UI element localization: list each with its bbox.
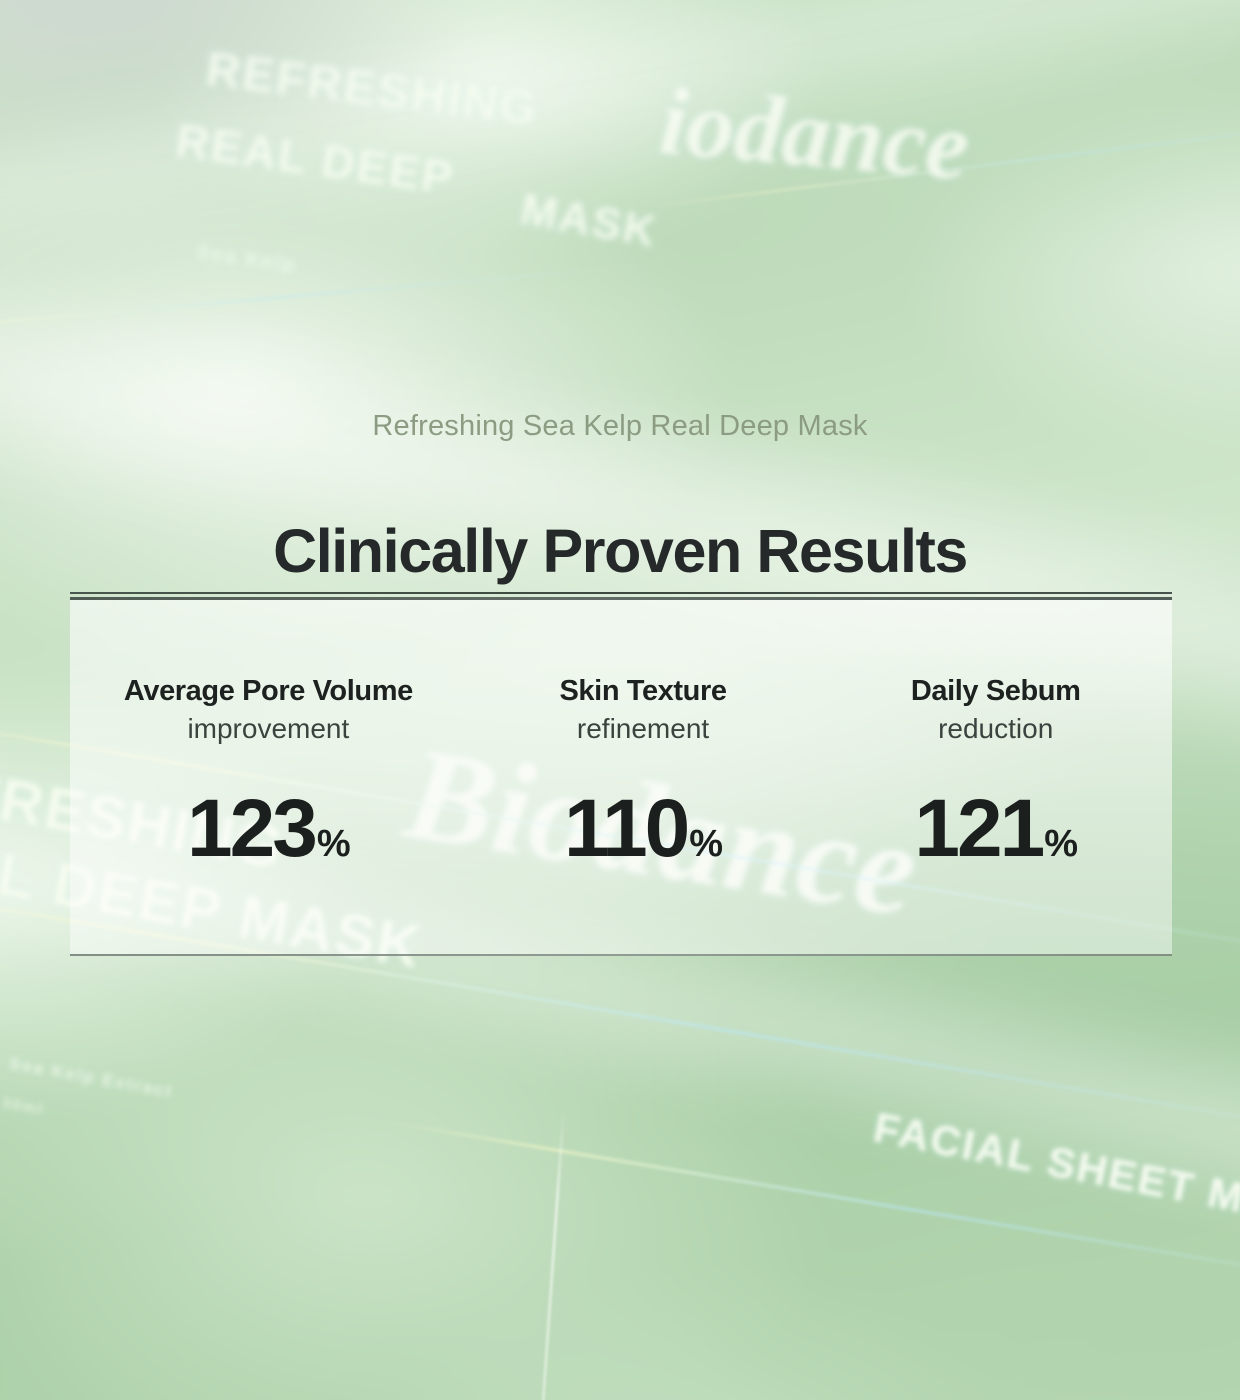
page-title: Clinically Proven Results <box>0 516 1240 586</box>
stat-unit: % <box>689 825 722 863</box>
stat-title: Daily Sebum <box>819 674 1172 708</box>
stat-card-daily-sebum: Daily Sebum reduction 121 % <box>819 674 1172 870</box>
stat-card-skin-texture: Skin Texture refinement 110 % <box>467 674 820 870</box>
stat-unit: % <box>1044 825 1077 863</box>
stat-unit: % <box>317 825 350 863</box>
stat-number: 121 <box>914 788 1042 870</box>
stat-value: 110 % <box>467 788 820 870</box>
stat-card-pore-volume: Average Pore Volume improvement 123 % <box>70 674 467 870</box>
clinical-results-panel: Average Pore Volume improvement 123 % Sk… <box>70 592 1172 956</box>
stat-number: 123 <box>187 788 315 870</box>
panel-top-rule-thin <box>70 592 1172 594</box>
stat-subtitle: improvement <box>70 712 467 746</box>
content-layer: Refreshing Sea Kelp Real Deep Mask Clini… <box>0 0 1240 1400</box>
stat-title: Average Pore Volume <box>70 674 467 708</box>
stat-value: 121 % <box>819 788 1172 870</box>
product-results-graphic: REFRESHING REAL DEEP MASK iodance Sea Ke… <box>0 0 1240 1400</box>
stat-number: 110 <box>564 788 687 870</box>
stat-title: Skin Texture <box>467 674 820 708</box>
stats-row: Average Pore Volume improvement 123 % Sk… <box>70 600 1172 954</box>
stat-value: 123 % <box>70 788 467 870</box>
product-name-eyebrow: Refreshing Sea Kelp Real Deep Mask <box>0 410 1240 443</box>
stat-subtitle: refinement <box>467 712 820 746</box>
stat-subtitle: reduction <box>819 712 1172 746</box>
panel-bottom-rule <box>70 954 1172 956</box>
